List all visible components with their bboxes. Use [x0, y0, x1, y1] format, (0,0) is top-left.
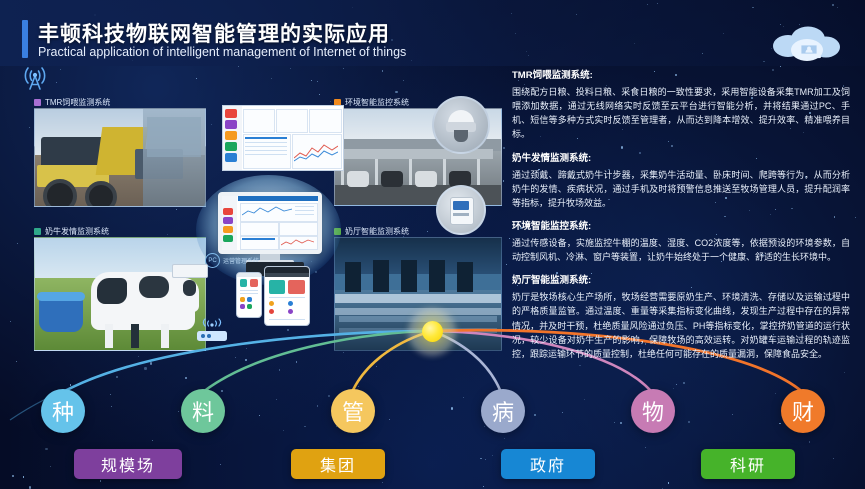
section-heading: TMR饲喂监测系统:: [512, 70, 850, 83]
section-heading: 奶厅智能监测系统:: [512, 275, 850, 288]
section-body: 通过传感设备，实施监控牛棚的温度、湿度、CO2浓度等，依据预设的环境参数，自动控…: [512, 236, 850, 264]
section-milkhall: 奶厅智能监测系统: 奶厅是牧场核心生产场所，牧场经营需要原奶生产、环境清洗、存储…: [512, 275, 850, 361]
sensor-device-inset: [436, 185, 486, 235]
node-circle-liao[interactable]: 料: [181, 389, 225, 433]
signal-tower-icon: [18, 60, 52, 94]
section-heading: 环境智能监控系统:: [512, 221, 850, 234]
description-column: TMR饲喂监测系统: 围绕配方日粮、投料日粮、采食日粮的一致性要求，采用智能设备…: [512, 70, 850, 372]
section-heading: 奶牛发情监测系统:: [512, 153, 850, 166]
node-circle-wu[interactable]: 物: [631, 389, 675, 433]
hub-node: [422, 321, 443, 342]
section-tmr: TMR饲喂监测系统: 围绕配方日粮、投料日粮、采食日粮的一致性要求，采用智能设备…: [512, 70, 850, 142]
cloud-laptop-icon: [768, 20, 846, 68]
device-card-left: [172, 264, 208, 278]
panel-label-estrus: 奶牛发情监测系统: [34, 226, 109, 237]
node-label: 物: [642, 395, 664, 427]
slide-canvas: 丰顿科技物联网智能管理的实际应用 Practical application o…: [0, 0, 865, 489]
chip-zhengfu[interactable]: 政府: [501, 449, 595, 479]
title-accent-bar: [22, 20, 28, 58]
node-circle-guan[interactable]: 管: [331, 389, 375, 433]
node-label: 管: [342, 395, 364, 427]
chip-jituan[interactable]: 集团: [291, 449, 385, 479]
node-label: 料: [192, 395, 214, 427]
node-circle-bing[interactable]: 病: [481, 389, 525, 433]
page-title: 丰顿科技物联网智能管理的实际应用: [38, 18, 390, 48]
chip-guimochang[interactable]: 规模场: [74, 449, 182, 479]
photo-cow-estrus: [34, 237, 206, 351]
node-label: 病: [492, 395, 514, 427]
section-body: 奶厅是牧场核心生产场所，牧场经营需要原奶生产、环境清洗、存储以及运输过程中的严格…: [512, 290, 850, 361]
camera-dome-inset: [432, 96, 490, 154]
section-env: 环境智能监控系统: 通过传感设备，实施监控牛棚的温度、湿度、CO2浓度等，依据预…: [512, 221, 850, 264]
node-label: 种: [52, 395, 74, 427]
node-circle-zhong[interactable]: 种: [41, 389, 85, 433]
section-body: 围绕配方日粮、投料日粮、采食日粮的一致性要求，采用智能设备采集TMR加工及饲喂添…: [512, 85, 850, 142]
section-estrus: 奶牛发情监测系统: 通过颈戴、蹄戴式奶牛计步器，采集奶牛活动量、卧床时间、爬跨等…: [512, 153, 850, 210]
panel-label-milkhall: 奶厅智能监测系统: [334, 226, 409, 237]
dashboard-window-upper: [222, 105, 344, 171]
wifi-router-icon: [193, 318, 233, 348]
chip-label: 集团: [320, 452, 356, 476]
page-subtitle: Practical application of intelligent man…: [38, 45, 406, 59]
panel-label-tmr: TMR饲喂监测系统: [34, 97, 110, 108]
mobile-phone-large: [264, 266, 310, 326]
chip-label: 政府: [530, 452, 566, 476]
section-body: 通过颈戴、蹄戴式奶牛计步器，采集奶牛活动量、卧床时间、爬跨等行为，从而分析奶牛的…: [512, 168, 850, 211]
node-label: 财: [792, 395, 814, 427]
chip-label: 科研: [730, 452, 766, 476]
panel-label-env: 环境智能监控系统: [334, 97, 409, 108]
photo-tmr-loader: [34, 108, 206, 207]
chip-keyan[interactable]: 科研: [701, 449, 795, 479]
node-circle-cai[interactable]: 财: [781, 389, 825, 433]
chip-label: 规模场: [101, 452, 155, 476]
mobile-phone-small: [236, 272, 262, 318]
